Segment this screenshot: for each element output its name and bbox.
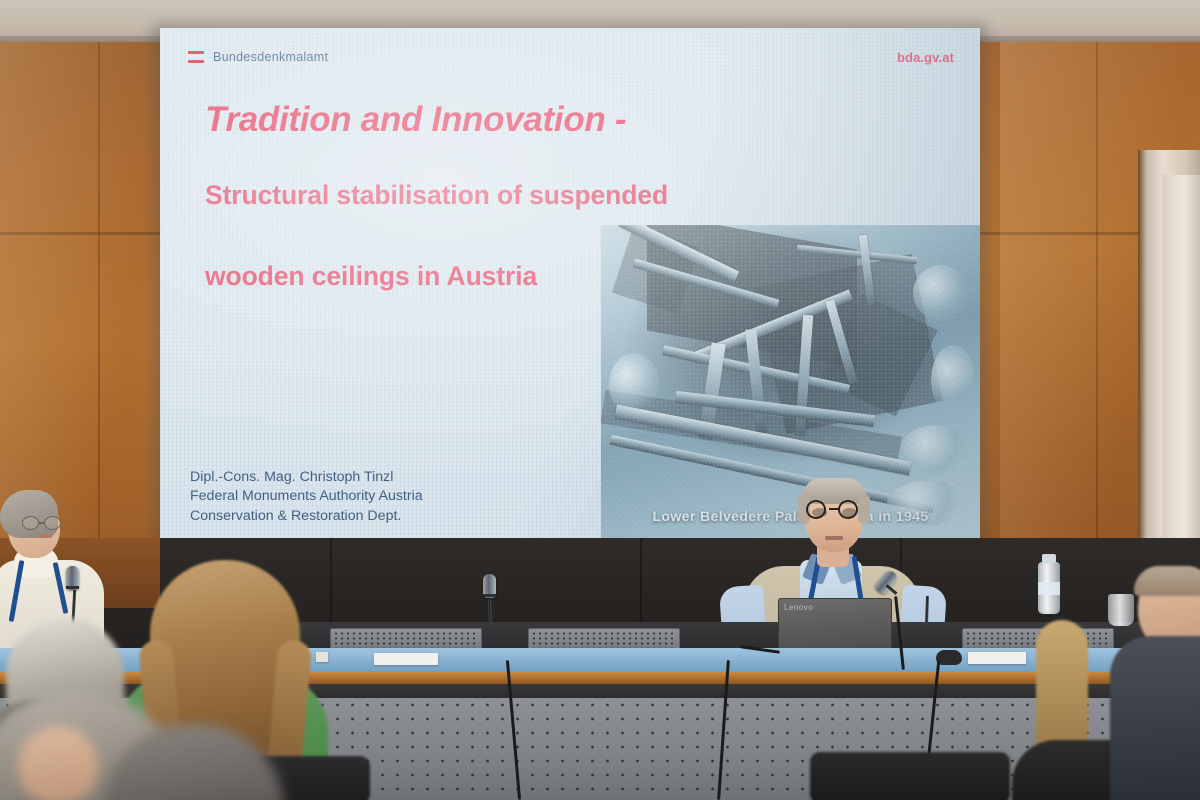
glasses-bridge — [829, 508, 840, 510]
glasses-lens — [22, 516, 39, 530]
organisation-name: Bundesdenkmalamt — [213, 50, 328, 64]
author-department: Conservation & Restoration Dept. — [190, 507, 423, 526]
moderator-glasses — [22, 516, 66, 534]
bald-man-hair — [1134, 566, 1200, 596]
slide-photograph: Lower Belvedere Palace Vienna in 1945 — [601, 225, 980, 538]
foreground-head — [18, 726, 98, 800]
laptop-brand-label: Lenovo — [784, 603, 813, 612]
paper-sheet-small — [316, 652, 328, 662]
photo-caption: Lower Belvedere Palace Vienna in 1945 — [601, 508, 980, 524]
glasses-bridge — [39, 522, 44, 524]
author-institution: Federal Monuments Authority Austria — [190, 487, 423, 506]
moderator-mouth — [38, 534, 52, 538]
glasses-lens — [806, 500, 826, 519]
presenter-mouth — [825, 536, 843, 540]
glasses-lens — [44, 516, 61, 530]
glasses-lens — [838, 500, 858, 519]
slide-title: Tradition and Innovation - — [205, 100, 805, 140]
austrian-flag-bar-logo — [188, 51, 204, 63]
bottle-cap — [1042, 554, 1056, 563]
chair-back — [810, 752, 1010, 800]
author-credit-block: Dipl.-Cons. Mag. Christoph Tinzl Federal… — [190, 468, 423, 526]
bottle-label — [1038, 582, 1060, 595]
conference-room-photo: Bundesdenkmalamt bda.gv.at Tradition and… — [0, 0, 1200, 800]
author-name: Dipl.-Cons. Mag. Christoph Tinzl — [190, 468, 423, 487]
photo-screen-mesh — [601, 225, 980, 538]
presentation-slide: Bundesdenkmalamt bda.gv.at Tradition and… — [160, 28, 980, 538]
website-url: bda.gv.at — [897, 50, 954, 65]
mic-ring — [483, 594, 496, 597]
bald-man-jacket — [1110, 636, 1200, 800]
slide-subtitle-line1: Structural stabilisation of suspended — [205, 180, 765, 211]
mic-ring — [66, 586, 79, 589]
brand-lockup: Bundesdenkmalamt — [188, 50, 328, 64]
paper-sheet-left — [374, 653, 438, 665]
projection-screen: Bundesdenkmalamt bda.gv.at Tradition and… — [160, 28, 980, 538]
paper-sheet-right — [968, 652, 1026, 664]
presenter-glasses — [802, 500, 868, 524]
